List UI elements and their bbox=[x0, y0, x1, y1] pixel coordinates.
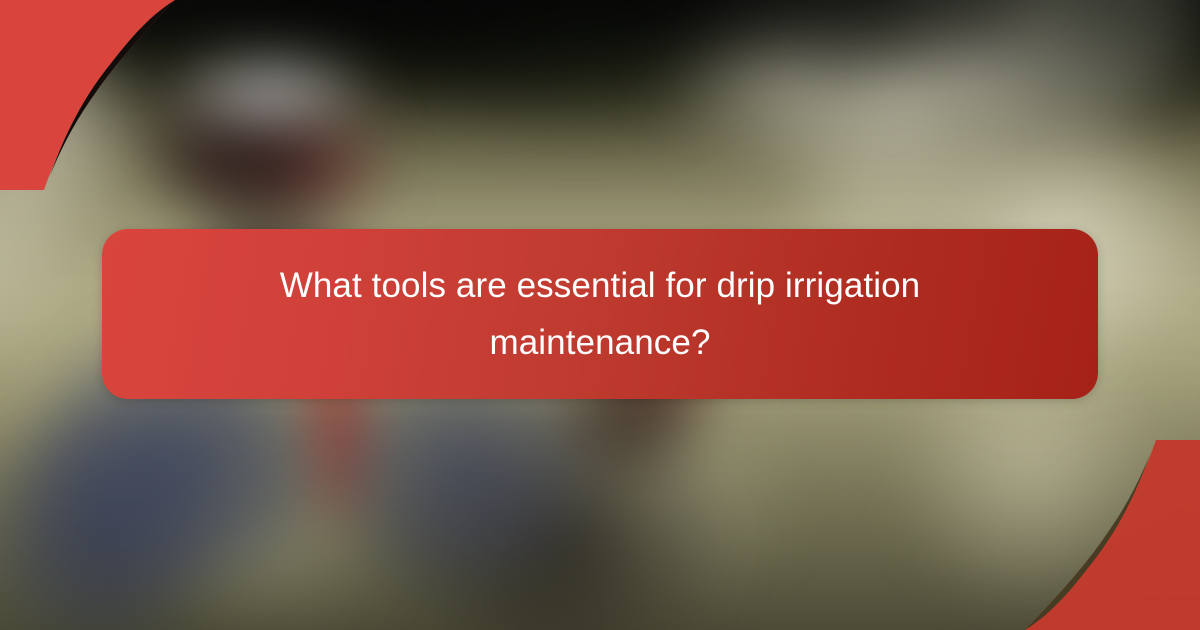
question-text: What tools are essential for drip irriga… bbox=[235, 257, 965, 371]
question-banner: What tools are essential for drip irriga… bbox=[102, 229, 1098, 399]
social-card: What tools are essential for drip irriga… bbox=[0, 0, 1200, 630]
